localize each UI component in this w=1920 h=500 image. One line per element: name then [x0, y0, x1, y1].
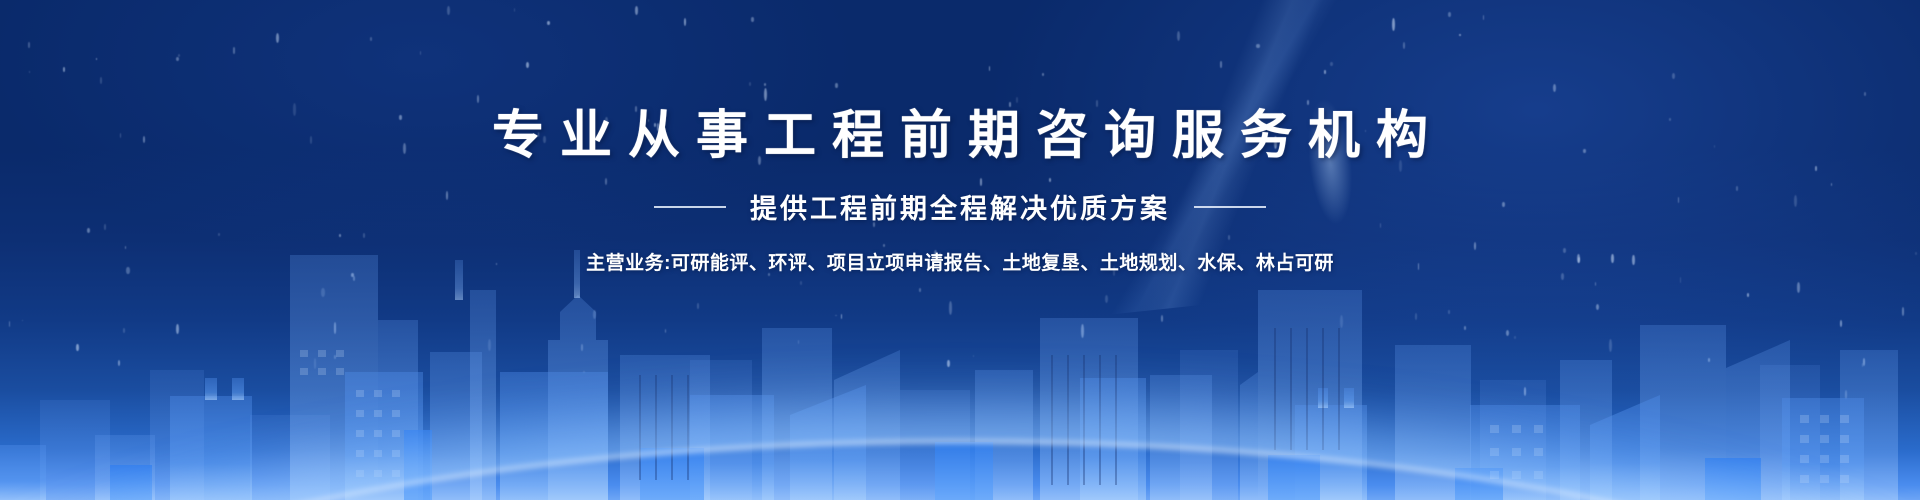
- right-rule-icon: [1194, 206, 1266, 208]
- banner-headline: 专业从事工程前期咨询服务机构: [0, 108, 1920, 165]
- banner-business-line: 主营业务:可研能评、环评、项目立项申请报告、土地复垦、土地规划、水保、林占可研: [0, 248, 1920, 275]
- banner-subline-row: 提供工程前期全程解决优质方案: [0, 187, 1920, 226]
- banner-subline: 提供工程前期全程解决优质方案: [750, 187, 1170, 226]
- banner-content: 专业从事工程前期咨询服务机构 提供工程前期全程解决优质方案 主营业务:可研能评、…: [0, 0, 1920, 275]
- hero-banner: 专业从事工程前期咨询服务机构 提供工程前期全程解决优质方案 主营业务:可研能评、…: [0, 0, 1920, 500]
- left-rule-icon: [654, 206, 726, 208]
